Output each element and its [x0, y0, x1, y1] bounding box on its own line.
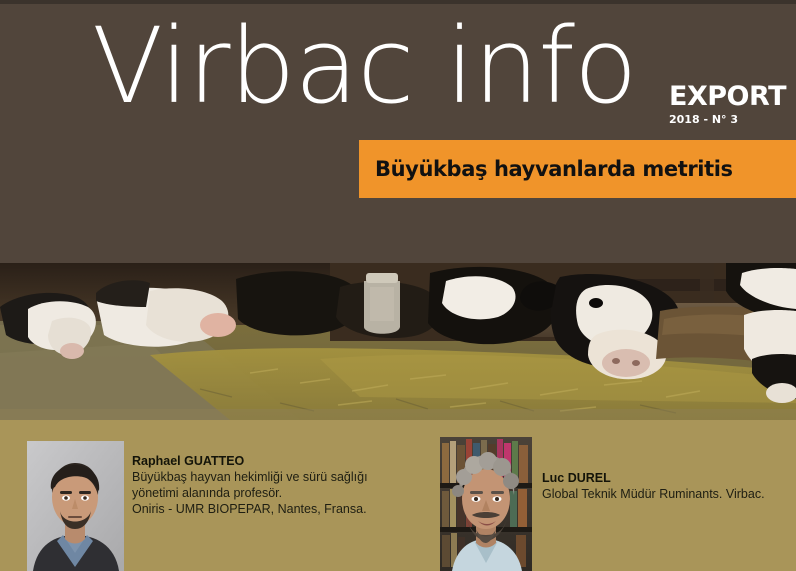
author-info-durel: Luc DUREL Global Teknik Müdür Ruminants.… [542, 470, 792, 502]
hero-photo-cows-feeding [0, 263, 796, 420]
author-block-durel: Luc DUREL Global Teknik Müdür Ruminants.… [420, 420, 796, 571]
author-name: Luc DUREL [542, 470, 792, 486]
avatar-raphael-guatteo [27, 441, 124, 571]
newsletter-cover-page: Virbac info EXPORT 2018 - N° 3 Büyükbaş … [0, 0, 796, 571]
export-label: EXPORT [669, 83, 796, 111]
authors-strip: Raphael GUATTEO Büyükbaş hayvan hekimliğ… [0, 420, 796, 571]
avatar-luc-durel [440, 437, 532, 571]
author-affiliation-line: Global Teknik Müdür Ruminants. Virbac. [542, 486, 792, 502]
masthead: Virbac info EXPORT 2018 - N° 3 Büyükbaş … [0, 4, 796, 263]
cover-title-text: Büyükbaş hayvanlarda metritis [375, 157, 733, 181]
author-block-guatteo: Raphael GUATTEO Büyükbaş hayvan hekimliğ… [0, 420, 420, 571]
author-affiliation-line: yönetimi alanında profesör. [132, 485, 402, 501]
virbac-info-logotype: Virbac info [92, 14, 637, 118]
portrait-illustration [440, 437, 532, 571]
issue-number-label: 2018 - N° 3 [669, 113, 796, 127]
author-affiliation-line: Büyükbaş hayvan hekimliği ve sürü sağlığ… [132, 469, 402, 485]
portrait-illustration [27, 441, 124, 571]
hero-photo-illustration [0, 263, 796, 420]
author-name: Raphael GUATTEO [132, 453, 402, 469]
cover-title-banner: Büyükbaş hayvanlarda metritis [359, 140, 796, 198]
author-info-guatteo: Raphael GUATTEO Büyükbaş hayvan hekimliğ… [132, 453, 402, 517]
author-affiliation-line: Oniris - UMR BIOPEPAR, Nantes, Fransa. [132, 501, 402, 517]
export-edition-block: EXPORT 2018 - N° 3 [665, 83, 796, 127]
